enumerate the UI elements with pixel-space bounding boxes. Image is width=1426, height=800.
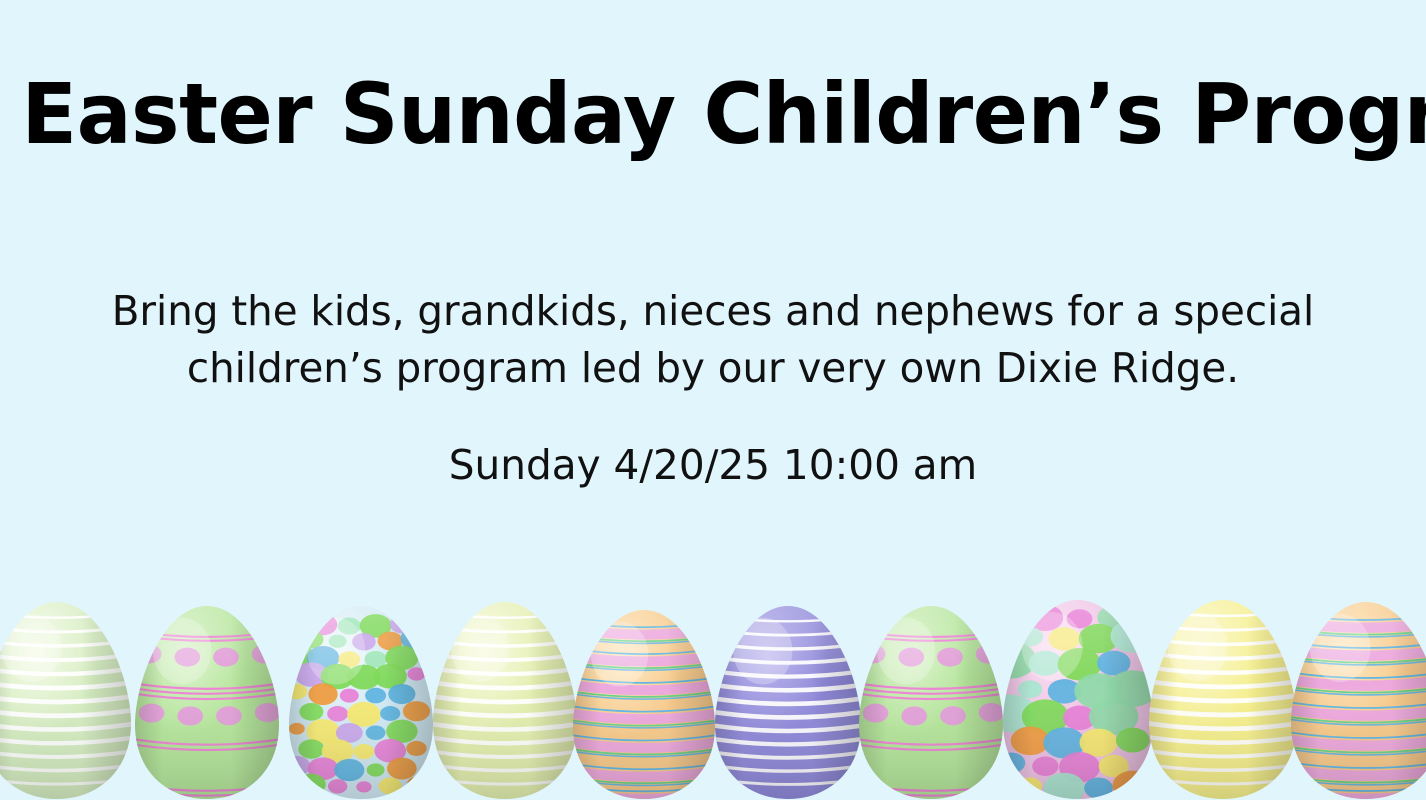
easter-egg-4 — [432, 600, 578, 800]
easter-egg-5 — [572, 608, 716, 800]
easter-egg-1 — [0, 600, 132, 800]
easter-egg-decoration-row — [0, 585, 1426, 800]
easter-egg-7 — [858, 604, 1004, 800]
easter-egg-2 — [134, 604, 280, 800]
easter-egg-9 — [1148, 598, 1298, 800]
body-text-line-2: children’s program led by our very own D… — [11, 340, 1416, 397]
easter-program-slide: Easter Sunday Children’s Program Bring t… — [0, 0, 1426, 800]
easter-egg-6 — [714, 604, 862, 800]
easter-egg-3 — [288, 604, 434, 800]
easter-egg-8 — [1002, 598, 1154, 800]
easter-egg-10 — [1290, 600, 1426, 800]
event-date-time: Sunday 4/20/25 10:00 am — [7, 441, 1419, 490]
body-text: Bring the kids, grandkids, nieces and ne… — [11, 283, 1416, 396]
body-text-line-1: Bring the kids, grandkids, nieces and ne… — [11, 283, 1416, 340]
page-title: Easter Sunday Children’s Program — [21, 72, 1404, 156]
